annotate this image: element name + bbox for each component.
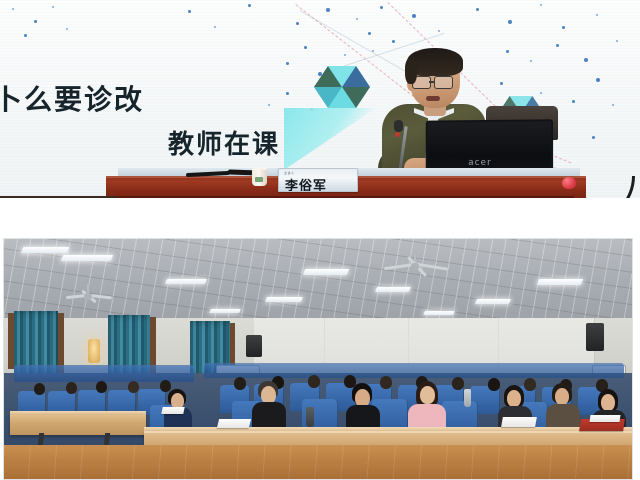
fan-hub — [411, 263, 419, 270]
ceiling-fan — [384, 261, 448, 271]
audience-head — [380, 376, 392, 389]
audience-head — [234, 377, 246, 390]
hexagon-facet-logo — [314, 66, 370, 108]
audience-head — [452, 377, 464, 390]
audience-head — [524, 378, 536, 391]
desk-row — [10, 413, 146, 435]
ceiling-light-panel — [475, 299, 511, 304]
audience-head — [160, 380, 171, 392]
auditorium-audience-photo[interactable] — [3, 238, 633, 480]
wall-speaker — [586, 323, 604, 351]
speaker-nameplate: 主讲人 李俗军 — [278, 168, 358, 192]
fan-rod — [87, 284, 89, 293]
ceiling-light-panel — [165, 279, 207, 284]
nameplate-name: 李俗军 — [285, 175, 327, 192]
slide-headline-secondary: 教师在课 — [168, 124, 280, 161]
ceiling-light-panel — [423, 311, 455, 315]
person-head — [555, 388, 569, 405]
ceiling-light-panel — [375, 287, 411, 292]
water-bottle — [464, 389, 471, 407]
slide-headline-primary: 卜么要诊改 — [0, 78, 144, 118]
speaker-hair — [407, 48, 463, 76]
person-head — [420, 386, 435, 404]
speaker-mouth — [426, 96, 440, 101]
notebook — [590, 415, 621, 422]
audience-head — [488, 378, 500, 391]
wall-lamp — [88, 339, 100, 363]
audience-head — [128, 381, 139, 393]
eyeglasses-lens-right — [434, 76, 453, 89]
speaker-at-podium-photo[interactable]: 卜么要诊改 教师在课 acer — [0, 0, 640, 226]
ceiling-fan — [66, 291, 112, 301]
wall-speaker — [246, 335, 262, 357]
laptop-brand-label: acer — [468, 158, 491, 168]
ceiling-light-panel — [209, 309, 241, 313]
photo-bottom-whitespace — [0, 198, 640, 226]
fan-hub — [84, 293, 92, 300]
ceiling-light-panel — [265, 297, 303, 302]
audience-head — [34, 383, 45, 395]
screenshot-canvas: 卜么要诊改 教师在课 acer — [0, 0, 640, 480]
microphone-indicator — [395, 132, 400, 137]
ceiling-light-panel — [537, 279, 583, 285]
eyeglasses-bridge — [429, 81, 434, 83]
auditorium-floor — [4, 445, 632, 479]
red-microphone-base — [562, 177, 576, 189]
audience-head — [96, 381, 107, 393]
ceiling — [4, 239, 632, 330]
seat-row — [204, 363, 624, 378]
ceiling-light-panel — [61, 255, 113, 261]
person-head — [507, 390, 521, 407]
audience-head — [308, 375, 320, 388]
person-head — [601, 394, 615, 411]
water-bottle — [306, 407, 314, 427]
desk-edge — [10, 411, 146, 415]
notebook — [501, 417, 537, 427]
microphone-head — [394, 120, 403, 132]
ceiling-light-panel — [21, 247, 69, 253]
paper-cup — [252, 168, 267, 186]
notebook — [217, 419, 251, 428]
notebook — [161, 407, 184, 414]
audience-head — [66, 382, 77, 394]
ceiling-light-panel — [303, 269, 349, 275]
